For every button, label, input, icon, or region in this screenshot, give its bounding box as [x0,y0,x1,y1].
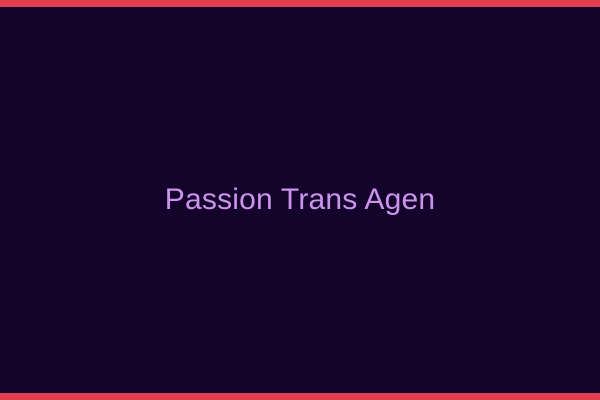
top-accent-bar [0,0,600,7]
banner-screen: Passion Trans Agen [0,0,600,400]
banner-title: Passion Trans Agen [165,185,435,215]
banner-canvas: Passion Trans Agen [0,7,600,393]
bottom-accent-bar [0,393,600,400]
